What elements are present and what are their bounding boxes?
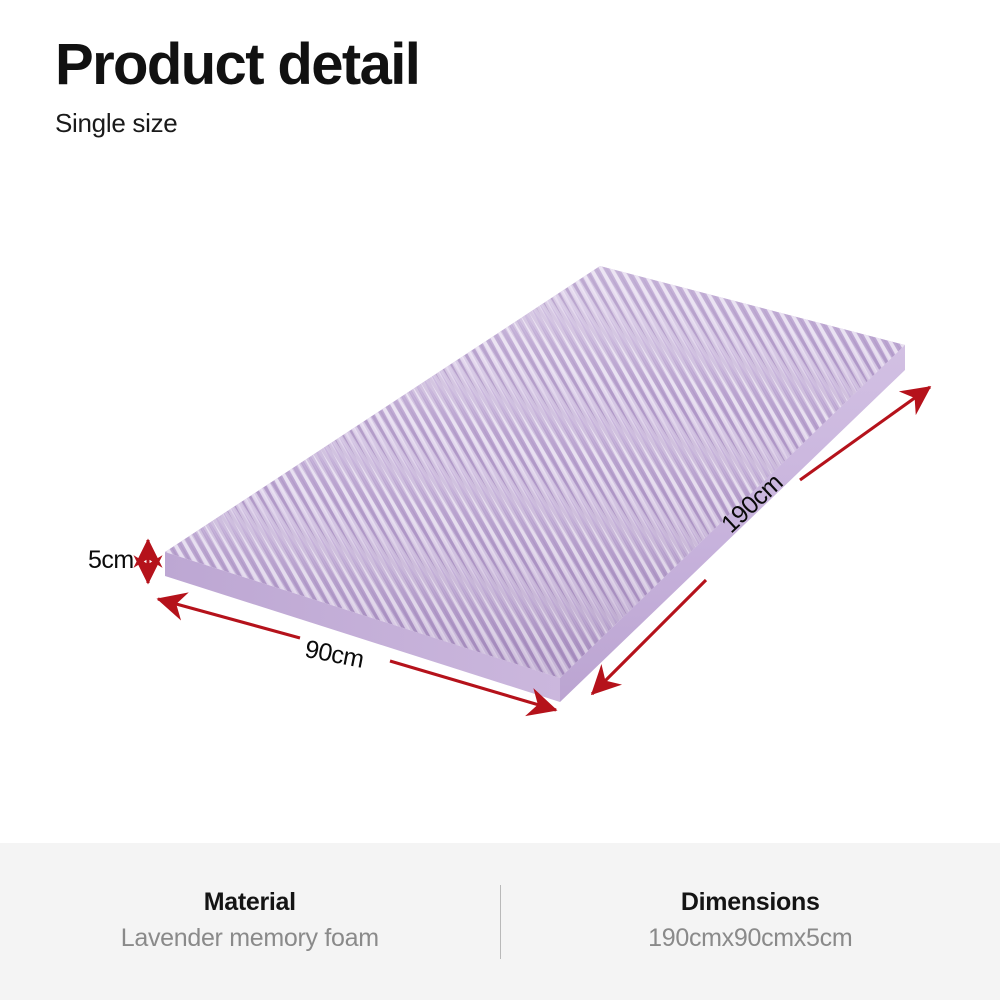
page-title: Product detail xyxy=(55,36,755,94)
footer-specs-bar: Material Lavender memory foam Dimensions… xyxy=(0,843,1000,1000)
foam-mattress-diagram xyxy=(0,180,1000,820)
footer-column-material: Material Lavender memory foam xyxy=(0,887,500,956)
dimensions-value: 190cmx90cmx5cm xyxy=(501,922,1000,956)
product-illustration xyxy=(0,180,1000,820)
header: Product detail Single size xyxy=(55,36,755,139)
material-heading: Material xyxy=(0,887,500,917)
dimension-label-height: 5cm xyxy=(88,546,134,575)
dimensions-heading: Dimensions xyxy=(501,887,1000,917)
material-value: Lavender memory foam xyxy=(0,922,500,956)
product-detail-page: Product detail Single size xyxy=(0,0,1000,1000)
foam-slab xyxy=(165,266,905,702)
page-subtitle: Single size xyxy=(55,108,755,139)
footer-column-dimensions: Dimensions 190cmx90cmx5cm xyxy=(501,887,1000,956)
